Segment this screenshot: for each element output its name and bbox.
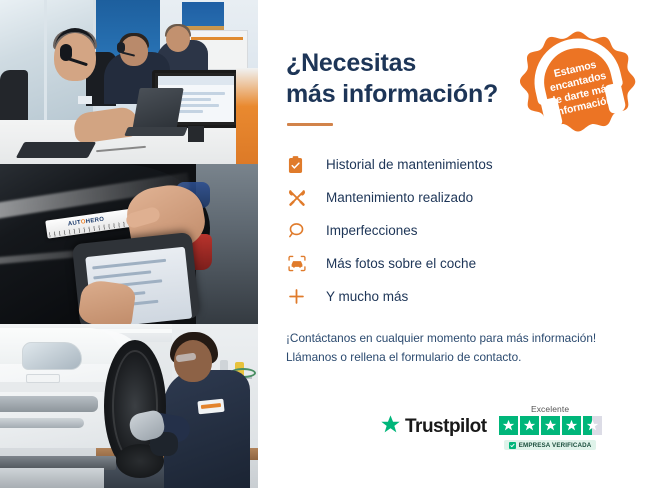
feature-label: Y mucho más <box>326 289 408 304</box>
feature-label: Más fotos sobre el coche <box>326 256 476 271</box>
contact-line-1: ¡Contáctanos en cualquier momento para m… <box>286 329 624 348</box>
trustpilot-widget[interactable]: Trustpilot Excelente EMPRESA VERIFICADA <box>380 404 602 450</box>
vehicle-inspection-photo: AUTOHERO <box>0 164 258 324</box>
star-filled <box>541 416 560 435</box>
trustpilot-logo: Trustpilot <box>380 414 487 440</box>
star-filled <box>562 416 581 435</box>
feature-list: Historial de mantenimientos Mantenimient… <box>288 148 624 313</box>
contact-line-2: Llámanos o rellena el formulario de cont… <box>286 348 624 367</box>
check-square-icon <box>509 442 516 449</box>
page-title: ¿Necesitas más información? <box>286 48 516 109</box>
plus-icon <box>288 286 314 308</box>
tools-cross-icon <box>288 187 314 209</box>
verified-company-label: EMPRESA VERIFICADA <box>519 442 592 449</box>
content-panel: ¿Necesitas más información? Estamos <box>258 0 650 488</box>
star-filled <box>499 416 518 435</box>
mechanic-wheel-photo <box>0 324 258 488</box>
trustpilot-rating-label: Excelente <box>531 404 569 414</box>
promo-card: AUTOHERO <box>0 0 650 488</box>
feature-item-mucho-mas: Y mucho más <box>288 280 624 313</box>
clipboard-check-icon <box>288 154 314 176</box>
page-title-line-1: ¿Necesitas <box>286 49 416 77</box>
magnifier-icon <box>288 220 314 242</box>
promo-starburst-badge: Estamos encantados de darte más informac… <box>520 24 636 140</box>
contact-text: ¡Contáctanos en cualquier momento para m… <box>286 329 624 367</box>
star-half <box>583 416 602 435</box>
call-center-agents-photo <box>0 0 258 164</box>
feature-label: Mantenimiento realizado <box>326 190 473 205</box>
feature-label: Imperfecciones <box>326 223 418 238</box>
feature-item-imperfecciones: Imperfecciones <box>288 214 624 247</box>
trustpilot-brand-label: Trustpilot <box>405 416 487 438</box>
verified-company-badge: EMPRESA VERIFICADA <box>504 440 597 450</box>
page-title-line-2: más información? <box>286 80 498 108</box>
star-filled <box>520 416 539 435</box>
title-divider <box>287 123 333 126</box>
feature-item-historial: Historial de mantenimientos <box>288 148 624 181</box>
photo-column: AUTOHERO <box>0 0 258 488</box>
car-scan-icon <box>288 253 314 275</box>
feature-item-mantenimiento: Mantenimiento realizado <box>288 181 624 214</box>
trustpilot-star-icon <box>380 414 401 440</box>
trustpilot-stars <box>499 416 602 435</box>
feature-item-fotos: Más fotos sobre el coche <box>288 247 624 280</box>
feature-label: Historial de mantenimientos <box>326 157 493 172</box>
